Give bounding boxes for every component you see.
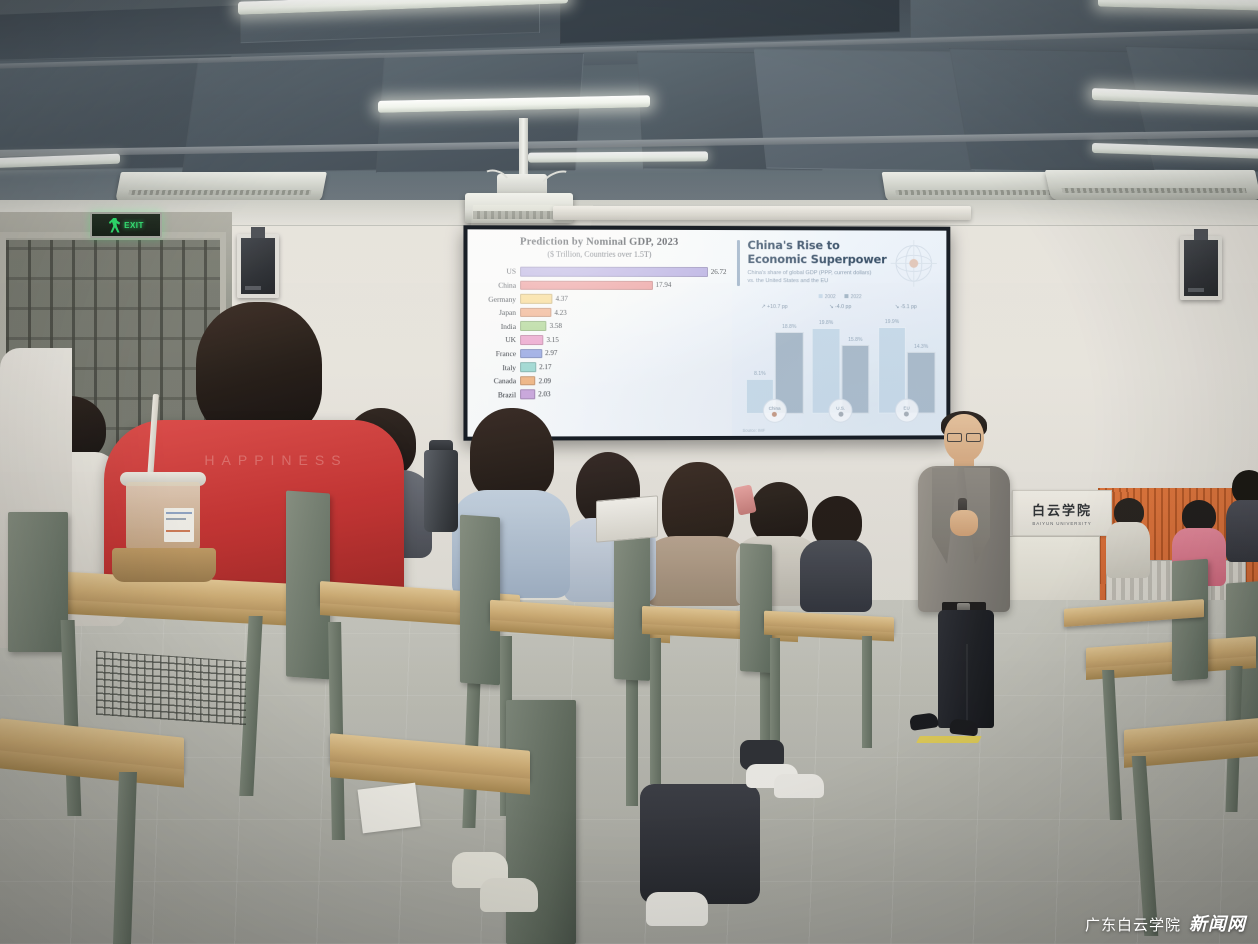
presenter-jacket	[918, 466, 1010, 612]
bar	[520, 376, 535, 386]
desk-row-front-left	[0, 560, 320, 944]
bar-chart-title: Prediction by Nominal GDP, 2023	[472, 236, 727, 249]
bar-category-label: Germany	[472, 294, 521, 303]
emergency-exit-sign: EXIT	[90, 212, 162, 238]
bar-value-label: 4.37	[555, 295, 567, 303]
bar-row: US26.72	[472, 265, 727, 279]
ceiling-ac-unit	[115, 172, 327, 202]
grouped-bar-chart: 8.1%18.8%China19.8%15.8%U.S.19.9%14.3%EU	[741, 318, 939, 414]
seat-row	[740, 544, 900, 754]
bar	[520, 294, 552, 304]
bar-row: Germany4.37	[472, 292, 727, 306]
presenter	[906, 414, 1016, 742]
chart-legend: 20022022	[741, 294, 938, 300]
bar	[520, 335, 543, 345]
presenter-legs	[938, 610, 994, 728]
paper-sheet	[358, 783, 421, 834]
bar-category-label: France	[472, 349, 521, 358]
category-chip: China	[763, 399, 787, 423]
bar-category-label: Japan	[472, 308, 521, 317]
bar	[520, 321, 547, 331]
seat-row-right	[1060, 560, 1210, 740]
delta-label: ↘ -4.0 pp	[807, 304, 873, 310]
delta-label: ↗ +10.7 pp	[741, 304, 807, 310]
ceiling-ac-unit	[882, 172, 1067, 202]
water-bottle	[424, 440, 458, 532]
running-man-exit-icon	[108, 218, 121, 233]
accent-bar	[737, 240, 740, 286]
category-chip: U.S.	[829, 399, 853, 423]
bar-category-label: Italy	[472, 363, 521, 372]
bar-value-label: 2.17	[539, 363, 551, 371]
bar-category-label: Canada	[472, 376, 521, 385]
panel-title-line2: Economic Superpower	[747, 252, 886, 266]
delta-label: ↘ -5.1 pp	[873, 304, 938, 310]
bar-value-label: 4.23	[554, 309, 566, 317]
bar-row: Brazil2.03	[472, 387, 727, 401]
lecture-hall-photo: EXIT 白云学院 BAIYUN UNIVERSITY Prediction b…	[0, 0, 1258, 944]
bar-group: 19.9%14.3%EU	[878, 318, 935, 414]
bar-value-label: 2.97	[545, 349, 557, 357]
presenter-shoe-left	[909, 712, 939, 731]
university-sign: 白云学院 BAIYUN UNIVERSITY	[1012, 490, 1112, 536]
projection-screen-case	[553, 206, 971, 220]
bar	[520, 267, 708, 277]
bar-value-label: 15.8%	[841, 337, 869, 343]
projector-mount-pole	[519, 118, 528, 180]
gdp-bar-chart: US26.72China17.94Germany4.37Japan4.23Ind…	[472, 265, 727, 402]
bar	[520, 390, 535, 400]
bar-value-label: 26.72	[711, 268, 727, 276]
bar-category-label: Brazil	[472, 390, 521, 399]
panel-title-line1: China's Rise to	[747, 238, 839, 252]
panel-subtitle-line1: China's share of global GDP (PPP, curren…	[747, 270, 871, 276]
bar-category-label: China	[472, 281, 521, 290]
presenter-glasses	[947, 433, 981, 440]
ceiling	[0, 0, 1258, 222]
bar-value-label: 3.58	[550, 322, 562, 330]
bar-row: Italy2.17	[472, 360, 727, 374]
presenter-hands	[950, 510, 978, 536]
watermark-site: 新闻网	[1189, 910, 1246, 936]
bar-value-label: 3.15	[546, 336, 558, 344]
student-hair	[196, 302, 322, 438]
bar-group: 19.8%15.8%U.S.	[812, 318, 869, 414]
slide-content: Prediction by Nominal GDP, 2023 ($ Trill…	[468, 229, 947, 436]
cup-holder	[112, 548, 216, 582]
bar-category-label: UK	[472, 335, 521, 344]
bar-category-label: US	[472, 267, 521, 276]
bar-category-label: India	[472, 322, 521, 331]
audience-member-shoes	[740, 740, 830, 810]
bar-row: China17.94	[472, 278, 727, 292]
globe-grid-icon	[887, 236, 940, 290]
ceiling-ac-unit	[1045, 170, 1258, 200]
bar-value-label: 2.03	[538, 390, 550, 398]
bar-value-label: 19.8%	[812, 320, 840, 326]
slide-left-panel: Prediction by Nominal GDP, 2023 ($ Trill…	[468, 229, 733, 436]
wall-speaker-left	[237, 234, 279, 298]
university-sign-cn: 白云学院	[1032, 500, 1092, 519]
bar-row: Canada2.09	[472, 374, 727, 388]
delta-labels: ↗ +10.7 pp↘ -4.0 pp↘ -5.1 pp	[741, 304, 938, 310]
bar-row: Japan4.23	[472, 306, 727, 320]
hoodie-text: HAPPINESS	[166, 452, 386, 468]
bar-value-label: 18.8%	[775, 324, 803, 330]
audience-member	[1226, 470, 1258, 562]
bar	[520, 308, 551, 318]
slide-right-panel: China's Rise to Economic Superpower Chin…	[732, 230, 946, 436]
audience-member-shoes	[452, 852, 544, 926]
ceiling-light	[528, 151, 708, 162]
bar-chart-subtitle: ($ Trillion, Countries over 1.5T)	[472, 250, 727, 260]
bar-value-label: 2.09	[539, 377, 551, 385]
watermark-university: 广东白云学院	[1085, 914, 1181, 935]
laptop[interactable]	[596, 495, 658, 542]
chart-source: Source: IMF	[742, 428, 765, 433]
bar-row: UK3.15	[472, 333, 727, 347]
bar-group: 8.1%18.8%China	[746, 318, 804, 414]
bar	[520, 349, 542, 359]
bar-row: France2.97	[472, 347, 727, 361]
bar-value-label: 19.9%	[878, 319, 906, 325]
panel-subtitle-line2: vs. the United States and the EU	[747, 278, 828, 284]
wall-speaker-right	[1180, 236, 1222, 300]
watermark: 广东白云学院 新闻网	[1085, 910, 1246, 936]
legend-item: 2002	[819, 294, 836, 300]
legend-item: 2022	[845, 294, 862, 300]
bar	[520, 280, 652, 290]
university-sign-en: BAIYUN UNIVERSITY	[1032, 521, 1091, 526]
exit-sign-label: EXIT	[124, 221, 144, 230]
bar-value-label: 8.1%	[746, 371, 774, 377]
bar-row: India3.58	[472, 319, 727, 333]
bar-value-label: 14.3%	[907, 344, 935, 350]
bar-value-label: 17.94	[656, 281, 672, 289]
bar	[520, 362, 536, 372]
